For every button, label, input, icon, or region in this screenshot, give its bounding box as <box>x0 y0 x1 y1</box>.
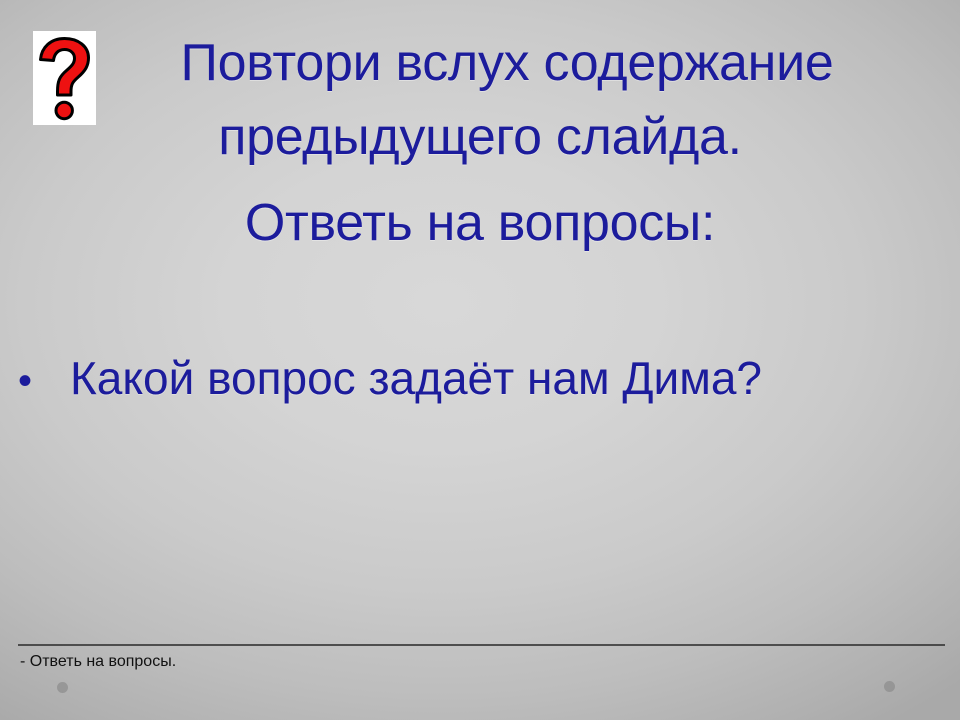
bullet-list: • Какой вопрос задаёт нам Дима? <box>0 350 960 406</box>
footer-divider <box>18 644 945 646</box>
title-line-2: предыдущего слайда. <box>0 100 960 174</box>
list-item: • Какой вопрос задаёт нам Дима? <box>0 350 960 406</box>
footer-note: - Ответь на вопросы. <box>20 652 176 672</box>
page-title: Повтори вслух содержание предыдущего сла… <box>0 26 960 260</box>
bullet-item-text: Какой вопрос задаёт нам Дима? <box>70 350 762 406</box>
title-line-3: Ответь на вопросы: <box>0 186 960 260</box>
decorative-dot-left <box>57 682 68 693</box>
decorative-dot-right <box>884 681 895 692</box>
title-line-1: Повтори вслух содержание <box>0 26 960 100</box>
bullet-point-icon: • <box>18 361 70 401</box>
slide-canvas: Повтори вслух содержание предыдущего сла… <box>0 0 960 720</box>
